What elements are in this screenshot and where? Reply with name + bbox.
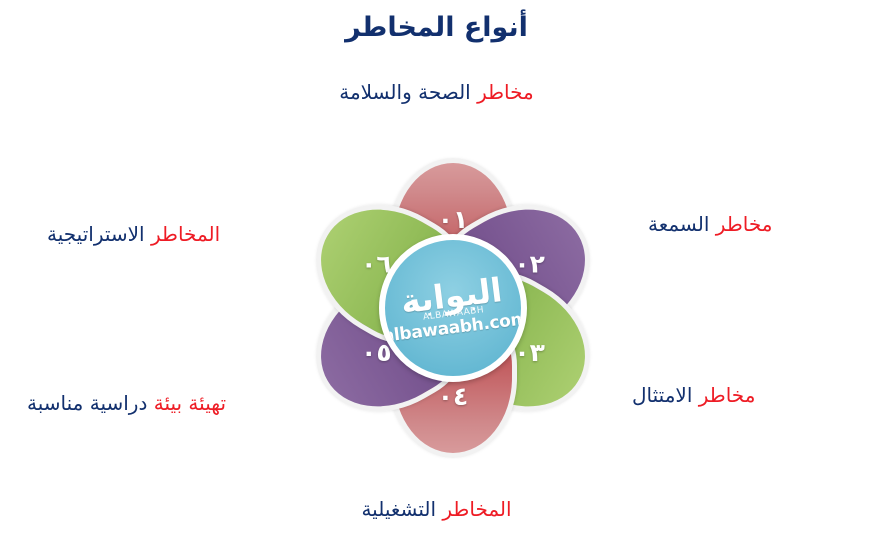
label-06-highlight: المخاطر — [151, 222, 220, 246]
page-title: أنواع المخاطر — [0, 12, 873, 43]
label-petal-05: تهيئة بيئة دراسية مناسبة — [27, 391, 226, 415]
label-03-highlight: مخاطر — [699, 383, 756, 407]
label-01-body: الصحة والسلامة — [339, 80, 471, 104]
label-petal-03: مخاطر الامتثال — [632, 383, 755, 407]
label-03-body: الامتثال — [632, 383, 692, 407]
center-logo[interactable]: البوابة ALBAWAABH albawaabh.com — [379, 234, 527, 382]
label-02-highlight: مخاطر — [716, 212, 773, 236]
logo-inner: البوابة ALBAWAABH albawaabh.com — [379, 270, 527, 345]
label-04-body: التشغيلية — [361, 497, 436, 521]
label-petal-01: مخاطر الصحة والسلامة — [0, 80, 873, 104]
label-05-body: دراسية مناسبة — [27, 391, 147, 415]
label-petal-02: مخاطر السمعة — [648, 212, 772, 236]
label-06-body: الاستراتيجية — [47, 222, 145, 246]
label-petal-04: المخاطر التشغيلية — [0, 497, 873, 521]
label-01-highlight: مخاطر — [477, 80, 534, 104]
label-05-highlight: تهيئة بيئة — [154, 391, 226, 415]
label-petal-06: المخاطر الاستراتيجية — [47, 222, 220, 246]
label-04-highlight: المخاطر — [442, 497, 511, 521]
risk-types-flower-diagram: ٠١ ٠٢ ٠٣ ٠٤ ٠٥ ٠٦ البوابة ALBAWAABH alba… — [273, 135, 633, 480]
label-02-body: السمعة — [648, 212, 709, 236]
